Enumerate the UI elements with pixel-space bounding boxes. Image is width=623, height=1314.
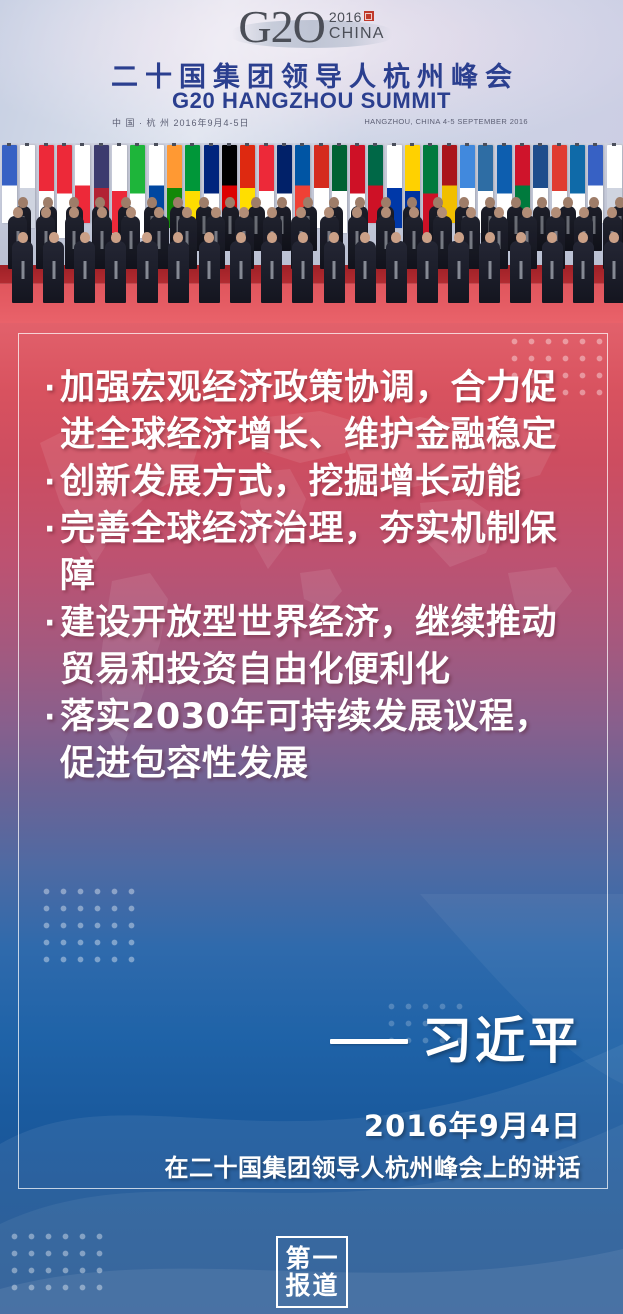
g20-logo: G2O 2016 CHINA <box>0 4 623 50</box>
key-point-text: 建设开放型世界经济，继续推动贸易和投资自由化便利化 <box>60 600 581 694</box>
brand-badge-line2: 报道 <box>283 1272 339 1299</box>
leader-figure <box>542 241 563 303</box>
key-point-item: ·建设开放型世界经济，继续推动贸易和投资自由化便利化 <box>44 600 581 694</box>
key-point-text: 加强宏观经济政策协调，合力促进全球经济增长、维护金融稳定 <box>60 365 581 459</box>
leader-figure <box>324 241 345 303</box>
summit-backdrop-header: G2O 2016 CHINA 二十国集团领导人杭州峰会 G20 HANGZHOU… <box>0 0 623 143</box>
leader-figure <box>168 241 189 303</box>
brand-badge-line1: 第一 <box>283 1245 339 1272</box>
speech-occasion: 在二十国集团领导人杭州峰会上的讲话 <box>165 1148 582 1183</box>
bullet-dot-icon: · <box>44 459 60 506</box>
g20-logo-year: 2016 <box>329 10 362 25</box>
leader-figure <box>573 241 594 303</box>
leader-figure <box>74 241 95 303</box>
quote-panel: ·加强宏观经济政策协调，合力促进全球经济增长、维护金融稳定·创新发展方式，挖掘增… <box>0 323 623 1314</box>
bullet-dot-icon: · <box>44 694 60 741</box>
leader-figure <box>386 241 407 303</box>
leader-figure <box>43 241 64 303</box>
leader-figure <box>479 241 500 303</box>
key-point-text: 创新发展方式，挖掘增长动能 <box>60 459 581 506</box>
dot-grid-bottom-left <box>6 1228 111 1300</box>
leader-figure <box>261 241 282 303</box>
red-seal-icon <box>364 11 374 21</box>
dot-grid-left <box>38 883 143 973</box>
leader-figure <box>604 241 623 303</box>
brand-badge[interactable]: 第一 报道 <box>276 1236 348 1308</box>
leader-figure <box>355 241 376 303</box>
key-point-item: ·创新发展方式，挖掘增长动能 <box>44 459 581 506</box>
leader-figure <box>105 241 126 303</box>
key-point-text: 落实2030年可持续发展议程，促进包容性发展 <box>60 694 581 788</box>
speaker-name: 习近平 <box>422 1015 581 1067</box>
summit-subtitle-en: HANGZHOU, CHINA 4-5 SEPTEMBER 2016 <box>364 117 528 126</box>
leaders-row <box>0 223 623 303</box>
leader-figure <box>510 241 531 303</box>
speaker-attribution: 习近平 <box>330 1015 581 1067</box>
bullet-dot-icon: · <box>44 365 60 412</box>
poster: G2O 2016 CHINA 二十国集团领导人杭州峰会 G20 HANGZHOU… <box>0 0 623 1314</box>
key-point-text: 完善全球经济治理，夯实机制保障 <box>60 506 581 600</box>
summit-subtitle-cn: 中 国 · 杭 州 2016年9月4-5日 <box>112 116 250 129</box>
speech-date: 2016年9月4日 <box>364 1103 581 1145</box>
key-point-item: ·落实2030年可持续发展议程，促进包容性发展 <box>44 694 581 788</box>
bullet-dot-icon: · <box>44 600 60 647</box>
leader-figure <box>417 241 438 303</box>
em-dash-icon <box>330 1039 408 1044</box>
leader-figure <box>230 241 251 303</box>
g20-logo-mark: G2O <box>238 4 324 50</box>
g20-logo-year-row: 2016 <box>329 10 385 25</box>
leaders-family-photo <box>0 143 623 323</box>
summit-title-en: G20 HANGZHOU SUMMIT <box>0 88 623 114</box>
bullet-dot-icon: · <box>44 506 60 553</box>
key-points-list: ·加强宏观经济政策协调，合力促进全球经济增长、维护金融稳定·创新发展方式，挖掘增… <box>44 365 581 788</box>
key-point-item: ·完善全球经济治理，夯实机制保障 <box>44 506 581 600</box>
leaders-row-group <box>0 179 623 309</box>
leader-figure <box>137 241 158 303</box>
key-point-item: ·加强宏观经济政策协调，合力促进全球经济增长、维护金融稳定 <box>44 365 581 459</box>
leader-figure <box>448 241 469 303</box>
leader-figure <box>199 241 220 303</box>
leader-figure <box>12 241 33 303</box>
g20-logo-text: 2016 CHINA <box>329 4 385 42</box>
g20-logo-country: CHINA <box>329 25 385 42</box>
leader-figure <box>292 241 313 303</box>
